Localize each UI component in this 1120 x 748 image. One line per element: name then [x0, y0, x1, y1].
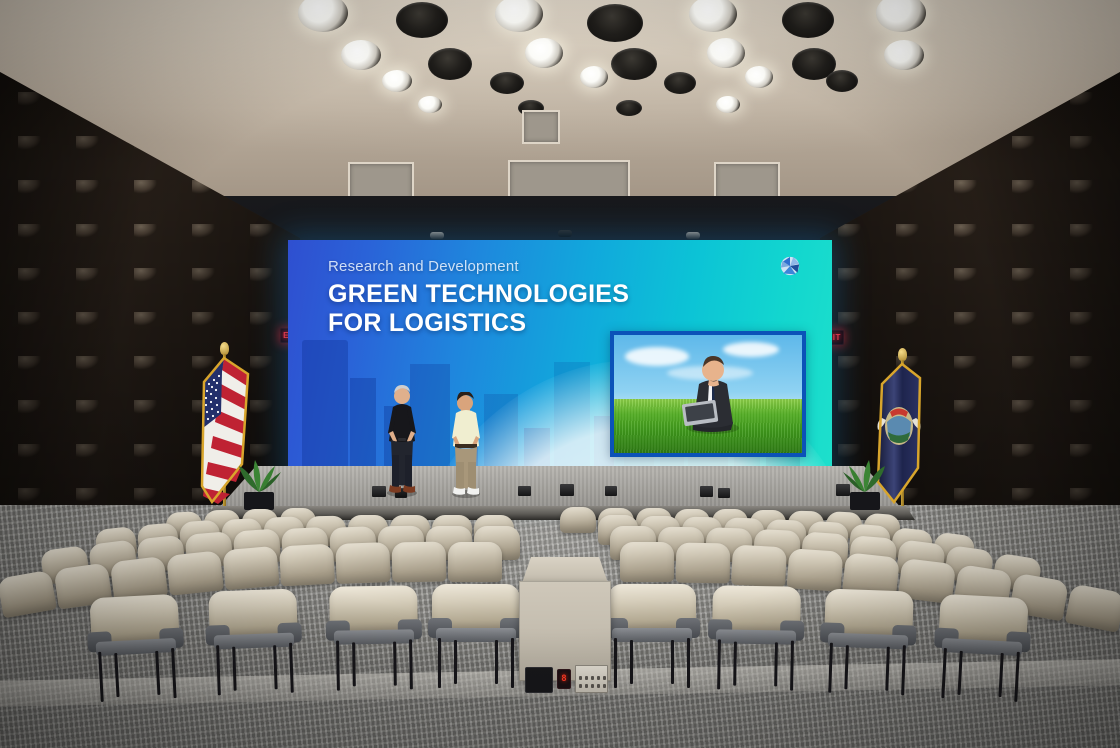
slide-text-block: Research and Development GREEN TECHNOLOG… [328, 258, 629, 337]
chair[interactable] [432, 584, 520, 688]
ceiling-can-light-on [341, 40, 381, 70]
pinwheel-logo-icon [780, 256, 800, 276]
ceiling-can-light-on [418, 96, 442, 113]
ceiling-can-light-on [382, 70, 412, 92]
soffit-spotlight [430, 232, 444, 239]
ceiling-can-light-off [611, 48, 657, 80]
ceiling-can-light-off [782, 2, 834, 38]
ceiling-can-light-on [884, 40, 924, 70]
ceiling-can-light-off [396, 2, 448, 38]
ceiling-can-light-on [707, 38, 745, 68]
chair[interactable] [822, 588, 914, 695]
power-outlet-plate[interactable] [525, 667, 553, 693]
ceiling-can-light-off [826, 70, 858, 92]
businessman-figure [673, 350, 751, 434]
ceiling-can-light-off [587, 4, 643, 42]
chair[interactable] [89, 594, 182, 702]
chair[interactable] [208, 588, 300, 695]
ceiling-can-light-on [580, 66, 608, 88]
ceiling-can-light-off [428, 48, 472, 80]
slide-title-line2: FOR LOGISTICS [328, 309, 629, 338]
floor-av-console[interactable]: 8 [519, 557, 611, 681]
floor-monitor-wedge [605, 486, 617, 496]
control-switch-panel[interactable] [575, 665, 608, 693]
floor-monitor-wedge [700, 486, 713, 497]
stage-plant-left [236, 444, 282, 510]
chair[interactable] [329, 585, 419, 691]
chair[interactable] [711, 585, 801, 691]
soffit-spotlight [558, 230, 572, 237]
ceiling-can-light-off [490, 72, 524, 94]
console-body: 8 [519, 581, 611, 681]
floor-monitor-wedge [560, 484, 574, 496]
chair[interactable] [608, 584, 696, 688]
led-digit-display: 8 [557, 669, 571, 689]
video-inset-panel[interactable] [610, 331, 806, 457]
auditorium-scene: EXIT EXIT Research and Developm [0, 0, 1120, 748]
ceiling-can-light-on [525, 38, 563, 68]
stage-plant-right [842, 446, 888, 510]
console-top-panel [522, 557, 608, 583]
slide-title-line1: GREEN TECHNOLOGIES [328, 280, 629, 309]
ceiling-can-light-off [664, 72, 696, 94]
slide-kicker: Research and Development [328, 258, 629, 275]
floor-monitor-wedge [518, 486, 531, 496]
ceiling-can-light-on [745, 66, 773, 88]
presenter-right [443, 392, 489, 498]
ceiling-can-light-on [716, 96, 740, 113]
floor-monitor-wedge [718, 488, 730, 498]
ceiling-vent-panel [522, 110, 560, 144]
ceiling-can-light-off [616, 100, 642, 116]
presenter-left [378, 385, 426, 497]
chair[interactable] [935, 594, 1028, 702]
soffit-spotlight [686, 232, 700, 239]
led-digit-value: 8 [561, 675, 566, 684]
